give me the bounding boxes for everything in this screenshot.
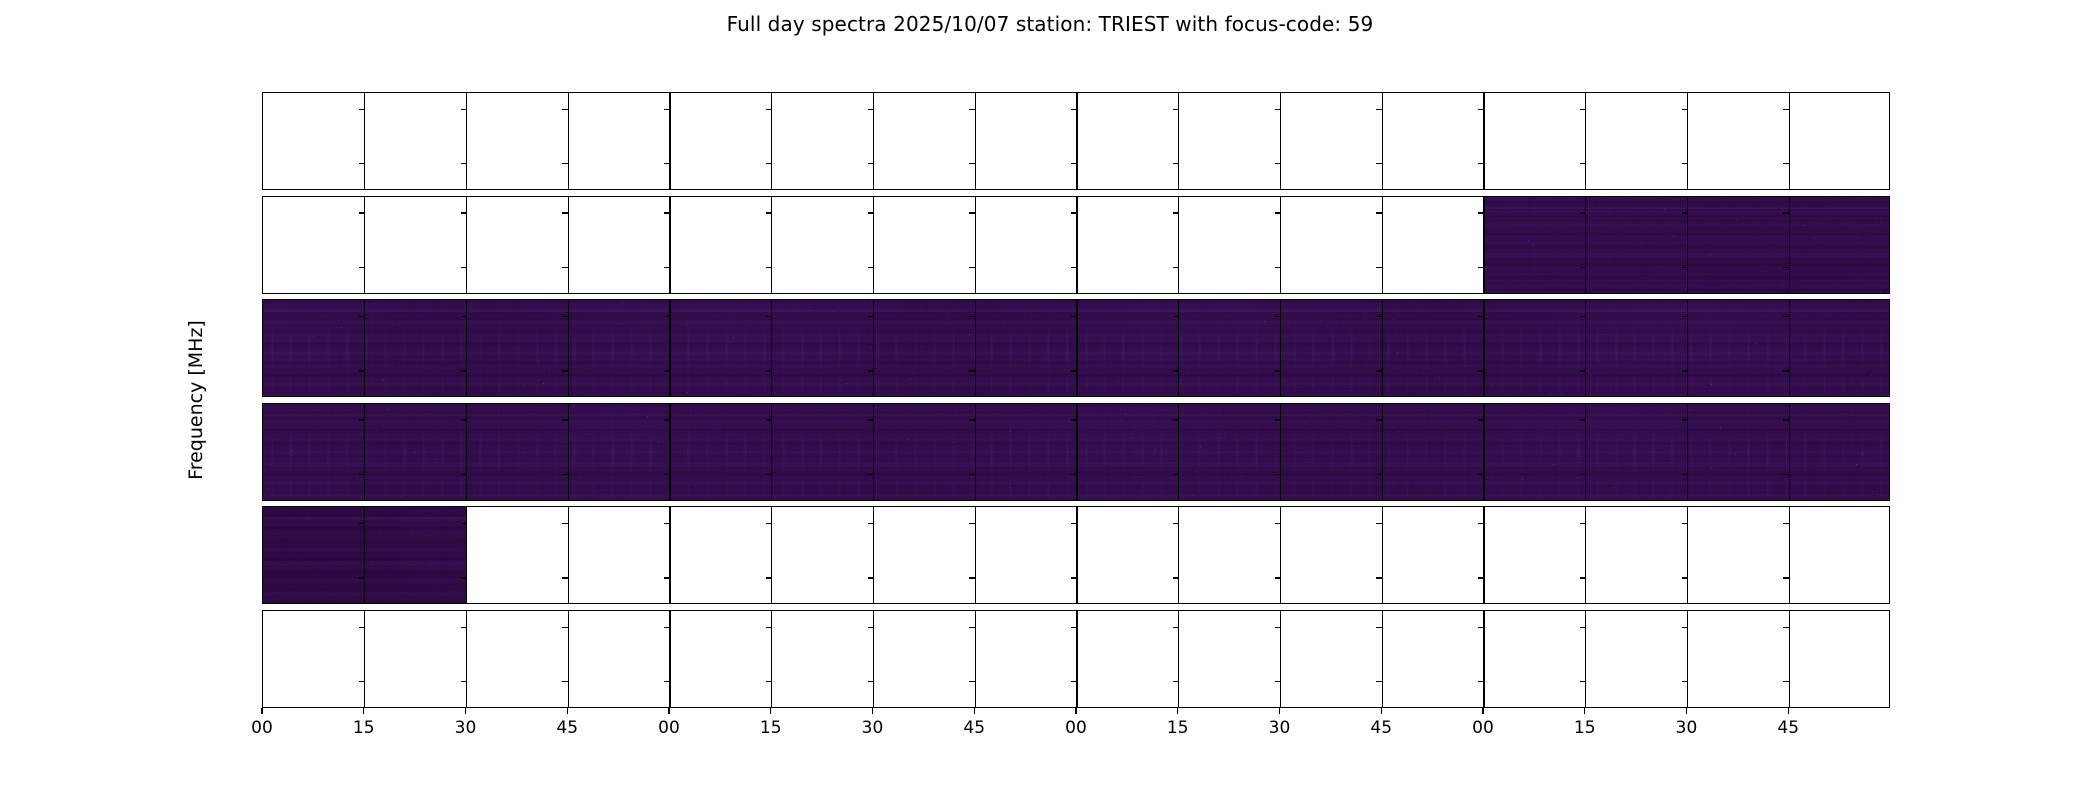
y-axis-tick: [262, 523, 263, 524]
y-axis-inner-tick: [359, 523, 365, 524]
y-axis-inner-tick: [562, 627, 568, 628]
y-axis-inner-tick: [562, 267, 568, 268]
panel-gridline: [466, 611, 467, 707]
y-axis-inner-tick: [1783, 316, 1789, 317]
y-axis-inner-tick: [766, 370, 772, 371]
panel-gridline: [873, 611, 874, 707]
x-axis-tick: [1075, 708, 1076, 714]
spectrogram-panel-stack: 40030000-03UT40030004-07UT40030008-11UT4…: [262, 92, 1890, 708]
y-axis-inner-tick: [1682, 316, 1688, 317]
y-axis-inner-tick: [1275, 627, 1281, 628]
y-axis-inner-tick: [1682, 370, 1688, 371]
y-axis-inner-tick: [1580, 163, 1586, 164]
y-axis-inner-tick: [1783, 523, 1789, 524]
y-axis-tick: [262, 474, 263, 475]
y-axis-inner-tick: [562, 577, 568, 578]
x-axis-tick-label: 15: [353, 718, 375, 738]
x-axis-tick: [872, 708, 873, 714]
y-axis-inner-tick: [766, 163, 772, 164]
spectrogram-image: [263, 197, 1889, 293]
x-axis-tick-label: 15: [1574, 718, 1596, 738]
y-axis-inner-tick: [461, 577, 467, 578]
y-axis-inner-tick: [1173, 627, 1179, 628]
x-axis-tick: [363, 708, 364, 714]
y-axis-inner-tick: [1275, 577, 1281, 578]
y-axis-tick: [262, 370, 263, 371]
panel-gridline: [1178, 611, 1179, 707]
y-axis-inner-tick: [359, 109, 365, 110]
x-axis-tick-label: 30: [862, 718, 884, 738]
y-axis-inner-tick: [1682, 577, 1688, 578]
y-axis-inner-tick: [461, 681, 467, 682]
y-axis-inner-tick: [664, 267, 670, 268]
y-axis-inner-tick: [1173, 474, 1179, 475]
panel-gridline: [364, 611, 365, 707]
y-axis-inner-tick: [1580, 474, 1586, 475]
x-axis-tick-label: 45: [556, 718, 578, 738]
y-axis-inner-tick: [461, 627, 467, 628]
y-axis-inner-tick: [1275, 267, 1281, 268]
x-axis-tick-label: 15: [760, 718, 782, 738]
y-axis-inner-tick: [1376, 474, 1382, 475]
panel-gridline: [1382, 93, 1383, 189]
y-axis-inner-tick: [664, 109, 670, 110]
y-axis-inner-tick: [461, 523, 467, 524]
panel-gridline: [1382, 611, 1383, 707]
y-axis-inner-tick: [766, 627, 772, 628]
y-axis-inner-tick: [1275, 419, 1281, 420]
panel-gridline: [975, 611, 976, 707]
spectrogram-image: [263, 300, 1889, 396]
y-axis-inner-tick: [766, 316, 772, 317]
y-axis-inner-tick: [969, 627, 975, 628]
x-axis-tick-label: 45: [1777, 718, 1799, 738]
x-axis-tick-label: 45: [1370, 718, 1392, 738]
page-title: Full day spectra 2025/10/07 station: TRI…: [0, 12, 2100, 36]
panel-gridline: [1483, 611, 1484, 707]
y-axis-inner-tick: [1783, 419, 1789, 420]
y-axis-inner-tick: [1478, 474, 1484, 475]
y-axis-inner-tick: [868, 523, 874, 524]
panel-gridline: [364, 93, 365, 189]
y-axis-inner-tick: [1376, 370, 1382, 371]
y-axis-inner-tick: [1478, 577, 1484, 578]
y-axis-inner-tick: [766, 212, 772, 213]
spectrogram-canvas: [1484, 197, 1890, 293]
y-axis-inner-tick: [1682, 109, 1688, 110]
y-axis-inner-tick: [1071, 316, 1077, 317]
y-axis-inner-tick: [868, 419, 874, 420]
y-axis-inner-tick: [868, 370, 874, 371]
y-axis-inner-tick: [1376, 577, 1382, 578]
y-axis-inner-tick: [1376, 627, 1382, 628]
x-axis-tick-label: 00: [1065, 718, 1087, 738]
x-axis-tick: [1482, 708, 1483, 714]
y-axis-inner-tick: [1173, 681, 1179, 682]
y-axis-inner-tick: [664, 681, 670, 682]
y-axis-inner-tick: [1783, 681, 1789, 682]
panel-gridline: [771, 93, 772, 189]
y-axis-inner-tick: [461, 212, 467, 213]
y-axis-inner-tick: [664, 163, 670, 164]
y-axis-inner-tick: [1783, 212, 1789, 213]
panel-gridline: [1483, 93, 1484, 189]
y-axis-inner-tick: [1783, 163, 1789, 164]
y-axis-inner-tick: [359, 163, 365, 164]
spectrogram-canvas: [263, 404, 1890, 500]
y-axis-inner-tick: [461, 370, 467, 371]
y-axis-inner-tick: [359, 212, 365, 213]
y-axis-inner-tick: [868, 212, 874, 213]
y-axis-inner-tick: [1682, 163, 1688, 164]
y-axis-inner-tick: [562, 419, 568, 420]
y-axis-inner-tick: [1580, 370, 1586, 371]
y-axis-inner-tick: [868, 267, 874, 268]
panel-gridline: [1789, 93, 1790, 189]
y-axis-inner-tick: [1580, 316, 1586, 317]
y-axis-inner-tick: [868, 577, 874, 578]
y-axis-inner-tick: [664, 577, 670, 578]
x-axis-tick-label: 45: [963, 718, 985, 738]
y-axis-inner-tick: [969, 316, 975, 317]
y-axis-inner-tick: [1478, 212, 1484, 213]
x-axis-tick-label: 00: [658, 718, 680, 738]
y-axis-inner-tick: [461, 163, 467, 164]
y-axis-tick: [262, 577, 263, 578]
y-axis-inner-tick: [1478, 370, 1484, 371]
y-axis-inner-tick: [461, 109, 467, 110]
y-axis-inner-tick: [664, 474, 670, 475]
spectrogram-panel-04-07ut[interactable]: 40030004-07UT: [262, 196, 1890, 294]
spectrogram-image: [263, 404, 1889, 500]
panel-gridline: [1789, 611, 1790, 707]
y-axis-inner-tick: [1580, 419, 1586, 420]
x-axis-tick-label: 30: [1269, 718, 1291, 738]
y-axis-inner-tick: [1376, 163, 1382, 164]
y-axis-inner-tick: [1478, 267, 1484, 268]
x-axis-tick: [1584, 708, 1585, 714]
y-axis-inner-tick: [1783, 370, 1789, 371]
y-axis-inner-tick: [1580, 212, 1586, 213]
y-axis-inner-tick: [461, 316, 467, 317]
y-axis-inner-tick: [1376, 523, 1382, 524]
x-axis-tick: [974, 708, 975, 714]
y-axis-inner-tick: [868, 163, 874, 164]
y-axis-inner-tick: [1376, 419, 1382, 420]
x-axis-tick: [567, 708, 568, 714]
panel-gridline: [1687, 611, 1688, 707]
x-axis-tick: [1279, 708, 1280, 714]
y-axis-inner-tick: [359, 419, 365, 420]
y-axis-inner-tick: [1275, 109, 1281, 110]
y-axis-inner-tick: [1783, 577, 1789, 578]
y-axis-inner-tick: [1376, 212, 1382, 213]
x-axis-tick-label: 30: [1676, 718, 1698, 738]
spectrogram-panel-00-03ut[interactable]: 40030000-03UT: [262, 92, 1890, 190]
x-axis: 00153045001530450015304500153045: [262, 708, 1890, 748]
y-axis-inner-tick: [562, 212, 568, 213]
y-axis-inner-tick: [1275, 163, 1281, 164]
y-axis-inner-tick: [1580, 627, 1586, 628]
y-axis-inner-tick: [1071, 627, 1077, 628]
y-axis-tick: [262, 316, 263, 317]
x-axis-tick: [668, 708, 669, 714]
y-axis-inner-tick: [868, 627, 874, 628]
y-axis-inner-tick: [1173, 419, 1179, 420]
x-axis-tick-label: 00: [1472, 718, 1494, 738]
y-axis-inner-tick: [868, 316, 874, 317]
x-axis-tick: [1686, 708, 1687, 714]
x-axis-tick: [1381, 708, 1382, 714]
spectrogram-panel-20-23ut[interactable]: 40030020-23UT: [262, 610, 1890, 708]
y-axis-inner-tick: [969, 109, 975, 110]
y-axis-inner-tick: [461, 474, 467, 475]
y-axis-inner-tick: [1173, 523, 1179, 524]
y-axis-inner-tick: [664, 419, 670, 420]
y-axis-inner-tick: [1783, 627, 1789, 628]
y-axis-inner-tick: [868, 474, 874, 475]
panel-gridline: [1585, 93, 1586, 189]
y-axis-tick: [262, 267, 263, 268]
panel-gridline: [1585, 611, 1586, 707]
y-axis-inner-tick: [1275, 370, 1281, 371]
y-axis-inner-tick: [1580, 577, 1586, 578]
spectrogram-canvas: [263, 507, 467, 603]
y-axis-inner-tick: [1478, 419, 1484, 420]
panel-gridline: [1076, 611, 1077, 707]
y-axis-inner-tick: [969, 163, 975, 164]
y-axis-inner-tick: [562, 523, 568, 524]
y-axis-inner-tick: [1275, 681, 1281, 682]
y-axis-inner-tick: [1580, 681, 1586, 682]
y-axis-inner-tick: [359, 474, 365, 475]
y-axis-inner-tick: [1682, 627, 1688, 628]
y-axis-inner-tick: [969, 577, 975, 578]
y-axis-inner-tick: [1682, 267, 1688, 268]
y-axis-inner-tick: [1580, 267, 1586, 268]
y-axis-inner-tick: [359, 316, 365, 317]
y-axis-inner-tick: [766, 523, 772, 524]
panel-gridline: [771, 611, 772, 707]
y-axis-inner-tick: [766, 681, 772, 682]
y-axis-inner-tick: [1275, 474, 1281, 475]
y-axis-inner-tick: [1478, 109, 1484, 110]
spectrogram-image: [263, 507, 1889, 603]
y-axis-inner-tick: [766, 474, 772, 475]
panel-gridline: [1076, 93, 1077, 189]
y-axis-inner-tick: [1071, 163, 1077, 164]
y-axis-inner-tick: [1275, 523, 1281, 524]
y-axis-inner-tick: [969, 370, 975, 371]
y-axis-inner-tick: [1071, 474, 1077, 475]
y-axis-inner-tick: [1478, 316, 1484, 317]
y-axis-inner-tick: [359, 370, 365, 371]
y-axis-label: Frequency [MHz]: [185, 320, 207, 480]
y-axis-inner-tick: [1783, 109, 1789, 110]
y-axis-tick: [262, 109, 263, 110]
y-axis-inner-tick: [766, 577, 772, 578]
y-axis-inner-tick: [1071, 267, 1077, 268]
y-axis-inner-tick: [1173, 163, 1179, 164]
y-axis-inner-tick: [766, 267, 772, 268]
panel-gridline: [669, 611, 670, 707]
y-axis-inner-tick: [359, 627, 365, 628]
x-axis-tick-label: 15: [1167, 718, 1189, 738]
panel-gridline: [466, 93, 467, 189]
y-axis-inner-tick: [868, 681, 874, 682]
x-axis-tick: [261, 708, 262, 714]
y-axis-inner-tick: [664, 212, 670, 213]
y-axis-inner-tick: [664, 523, 670, 524]
y-axis-inner-tick: [1173, 370, 1179, 371]
y-axis-inner-tick: [969, 419, 975, 420]
y-axis-inner-tick: [1783, 267, 1789, 268]
y-axis-inner-tick: [1376, 267, 1382, 268]
y-axis-inner-tick: [562, 316, 568, 317]
y-axis-inner-tick: [1071, 681, 1077, 682]
y-axis-inner-tick: [562, 370, 568, 371]
y-axis-inner-tick: [969, 474, 975, 475]
y-axis-inner-tick: [1682, 419, 1688, 420]
y-axis-tick: [262, 681, 263, 682]
y-axis-inner-tick: [461, 419, 467, 420]
y-axis-inner-tick: [1682, 474, 1688, 475]
y-axis-inner-tick: [1071, 109, 1077, 110]
spectrogram-panel-16-19ut[interactable]: 40030016-19UT: [262, 506, 1890, 604]
y-axis-inner-tick: [664, 316, 670, 317]
y-axis-inner-tick: [1682, 212, 1688, 213]
y-axis-inner-tick: [1376, 681, 1382, 682]
y-axis-tick: [262, 163, 263, 164]
y-axis-inner-tick: [766, 109, 772, 110]
y-axis-inner-tick: [1478, 523, 1484, 524]
y-axis-inner-tick: [1173, 267, 1179, 268]
panel-gridline: [1687, 93, 1688, 189]
panel-gridline: [669, 93, 670, 189]
y-axis-inner-tick: [562, 109, 568, 110]
y-axis-inner-tick: [461, 267, 467, 268]
y-axis-inner-tick: [359, 681, 365, 682]
panel-gridline: [568, 93, 569, 189]
x-axis-tick: [770, 708, 771, 714]
y-axis-inner-tick: [1071, 419, 1077, 420]
panel-gridline: [975, 93, 976, 189]
y-axis-inner-tick: [1478, 681, 1484, 682]
y-axis-inner-tick: [1173, 577, 1179, 578]
y-axis-inner-tick: [766, 419, 772, 420]
x-axis-tick: [1788, 708, 1789, 714]
y-axis-inner-tick: [1478, 163, 1484, 164]
x-axis-tick-label: 30: [455, 718, 477, 738]
y-axis-inner-tick: [1173, 212, 1179, 213]
y-axis-inner-tick: [1783, 474, 1789, 475]
y-axis-inner-tick: [969, 523, 975, 524]
spectrogram-panel-08-11ut[interactable]: 40030008-11UT: [262, 299, 1890, 397]
y-axis-inner-tick: [1071, 523, 1077, 524]
y-axis-inner-tick: [1173, 316, 1179, 317]
y-axis-inner-tick: [1376, 109, 1382, 110]
y-axis-inner-tick: [1275, 212, 1281, 213]
panel-gridline: [568, 611, 569, 707]
x-axis-tick-label: 00: [251, 718, 273, 738]
y-axis-inner-tick: [664, 627, 670, 628]
y-axis-inner-tick: [359, 267, 365, 268]
y-axis-inner-tick: [1275, 316, 1281, 317]
spectrogram-panel-12-15ut[interactable]: 40030012-15UT: [262, 403, 1890, 501]
y-axis-inner-tick: [562, 163, 568, 164]
y-axis-inner-tick: [1071, 370, 1077, 371]
y-axis-inner-tick: [359, 577, 365, 578]
y-axis-inner-tick: [1071, 212, 1077, 213]
y-axis-inner-tick: [868, 109, 874, 110]
y-axis-inner-tick: [969, 212, 975, 213]
y-axis-inner-tick: [969, 681, 975, 682]
panel-gridline: [1178, 93, 1179, 189]
y-axis-inner-tick: [1580, 109, 1586, 110]
x-axis-tick: [465, 708, 466, 714]
panel-gridline: [1280, 611, 1281, 707]
y-axis-inner-tick: [664, 370, 670, 371]
panel-gridline: [873, 93, 874, 189]
y-axis-inner-tick: [1173, 109, 1179, 110]
y-axis-tick: [262, 627, 263, 628]
y-axis-inner-tick: [1580, 523, 1586, 524]
y-axis-inner-tick: [1682, 681, 1688, 682]
panel-gridline: [1280, 93, 1281, 189]
figure-root: Full day spectra 2025/10/07 station: TRI…: [0, 0, 2100, 800]
y-axis-tick: [262, 212, 263, 213]
y-axis-inner-tick: [562, 681, 568, 682]
y-axis-inner-tick: [1682, 523, 1688, 524]
y-axis-inner-tick: [562, 474, 568, 475]
x-axis-tick: [1177, 708, 1178, 714]
y-axis-inner-tick: [969, 267, 975, 268]
y-axis-inner-tick: [1478, 627, 1484, 628]
y-axis-tick: [262, 419, 263, 420]
y-axis-inner-tick: [1376, 316, 1382, 317]
spectrogram-canvas: [263, 300, 1890, 396]
y-axis-inner-tick: [1071, 577, 1077, 578]
